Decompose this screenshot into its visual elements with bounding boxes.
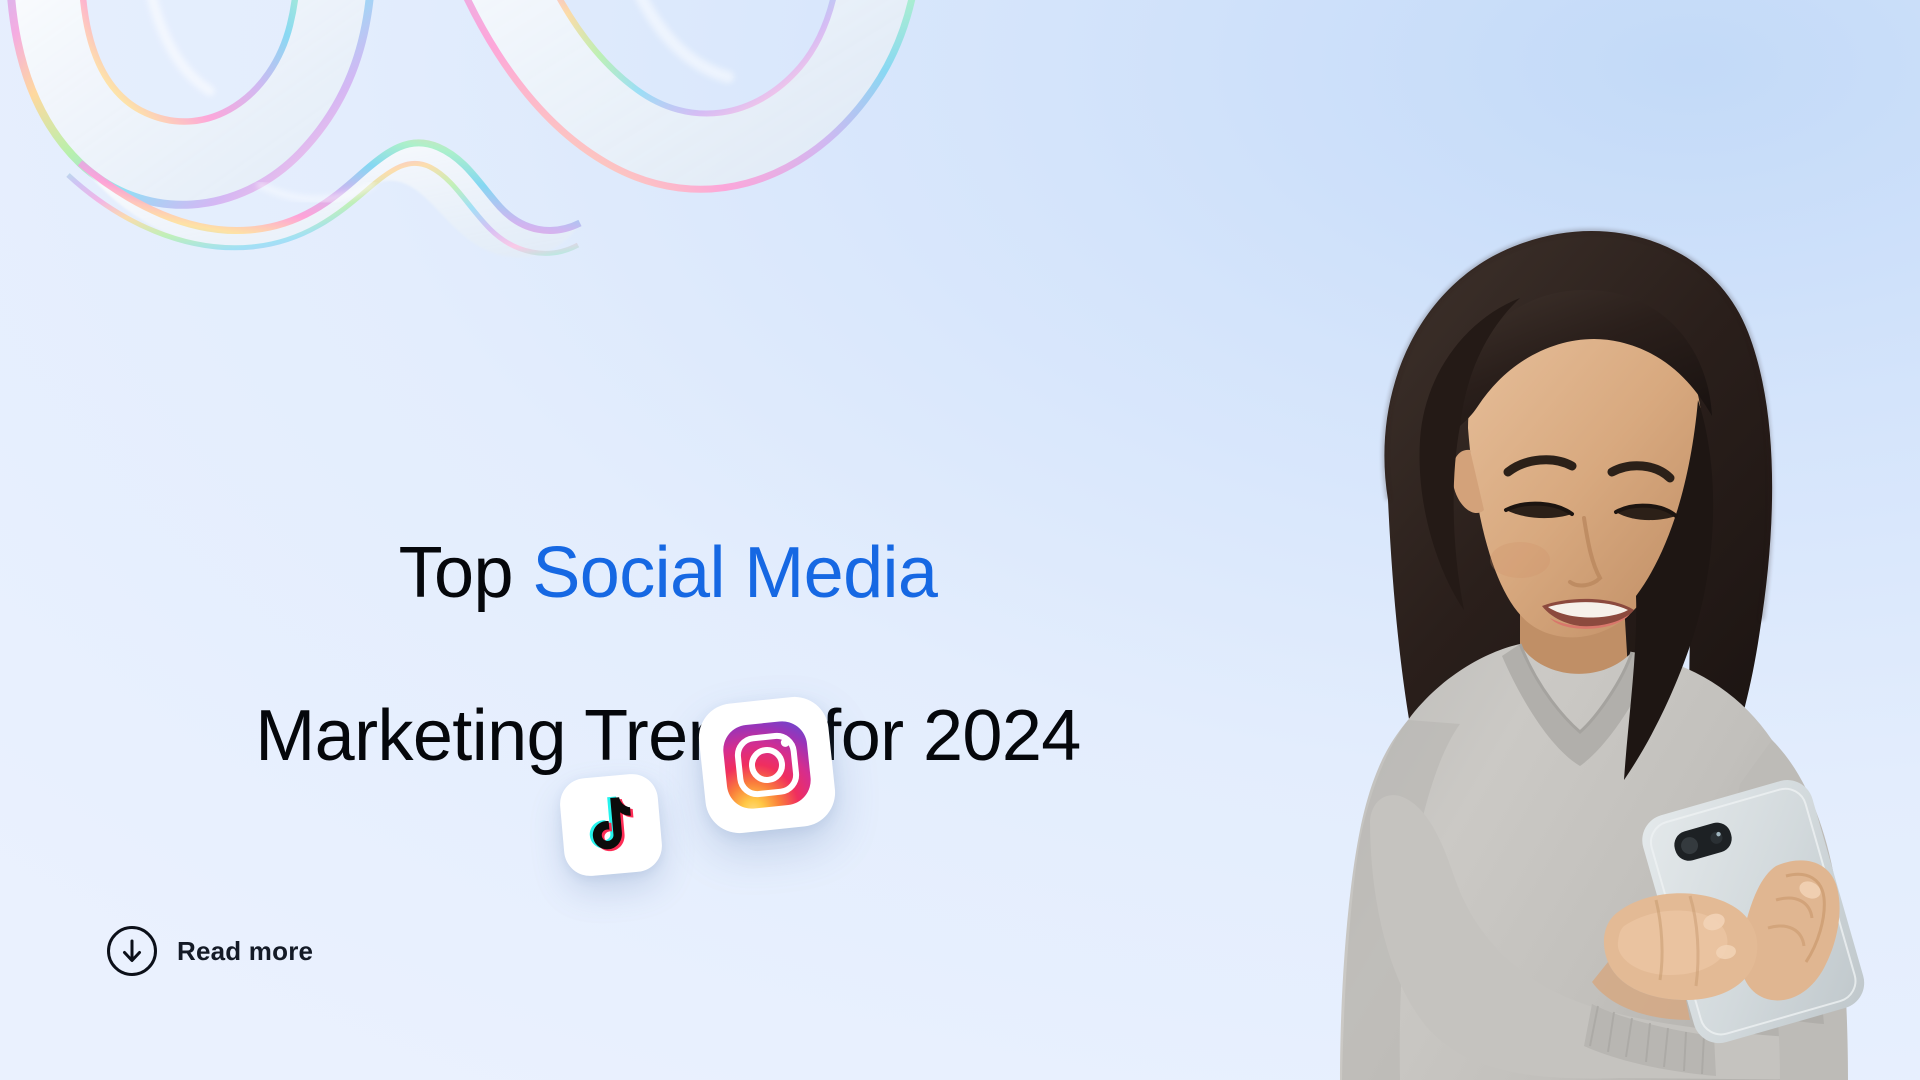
read-more-label: Read more [177,936,313,967]
headline-line-1: Top Social Media [0,533,1336,614]
instagram-tile[interactable] [696,694,839,837]
page-title: Top Social Media Marketing Trends for 20… [0,452,1336,859]
read-more-button[interactable]: Read more [107,926,313,976]
tiktok-tile[interactable] [558,772,664,878]
instagram-icon [719,717,816,814]
headline-plain-1: Top [399,533,533,613]
arrow-down-circle-icon [107,926,157,976]
headline-line-2: Marketing Trends for 2024 [0,696,1336,777]
hero-banner: Top Social Media Marketing Trends for 20… [0,0,1920,1080]
iridescent-glass-ribbon [0,0,970,355]
tiktok-icon [582,794,641,856]
headline-accent: Social Media [532,533,937,613]
